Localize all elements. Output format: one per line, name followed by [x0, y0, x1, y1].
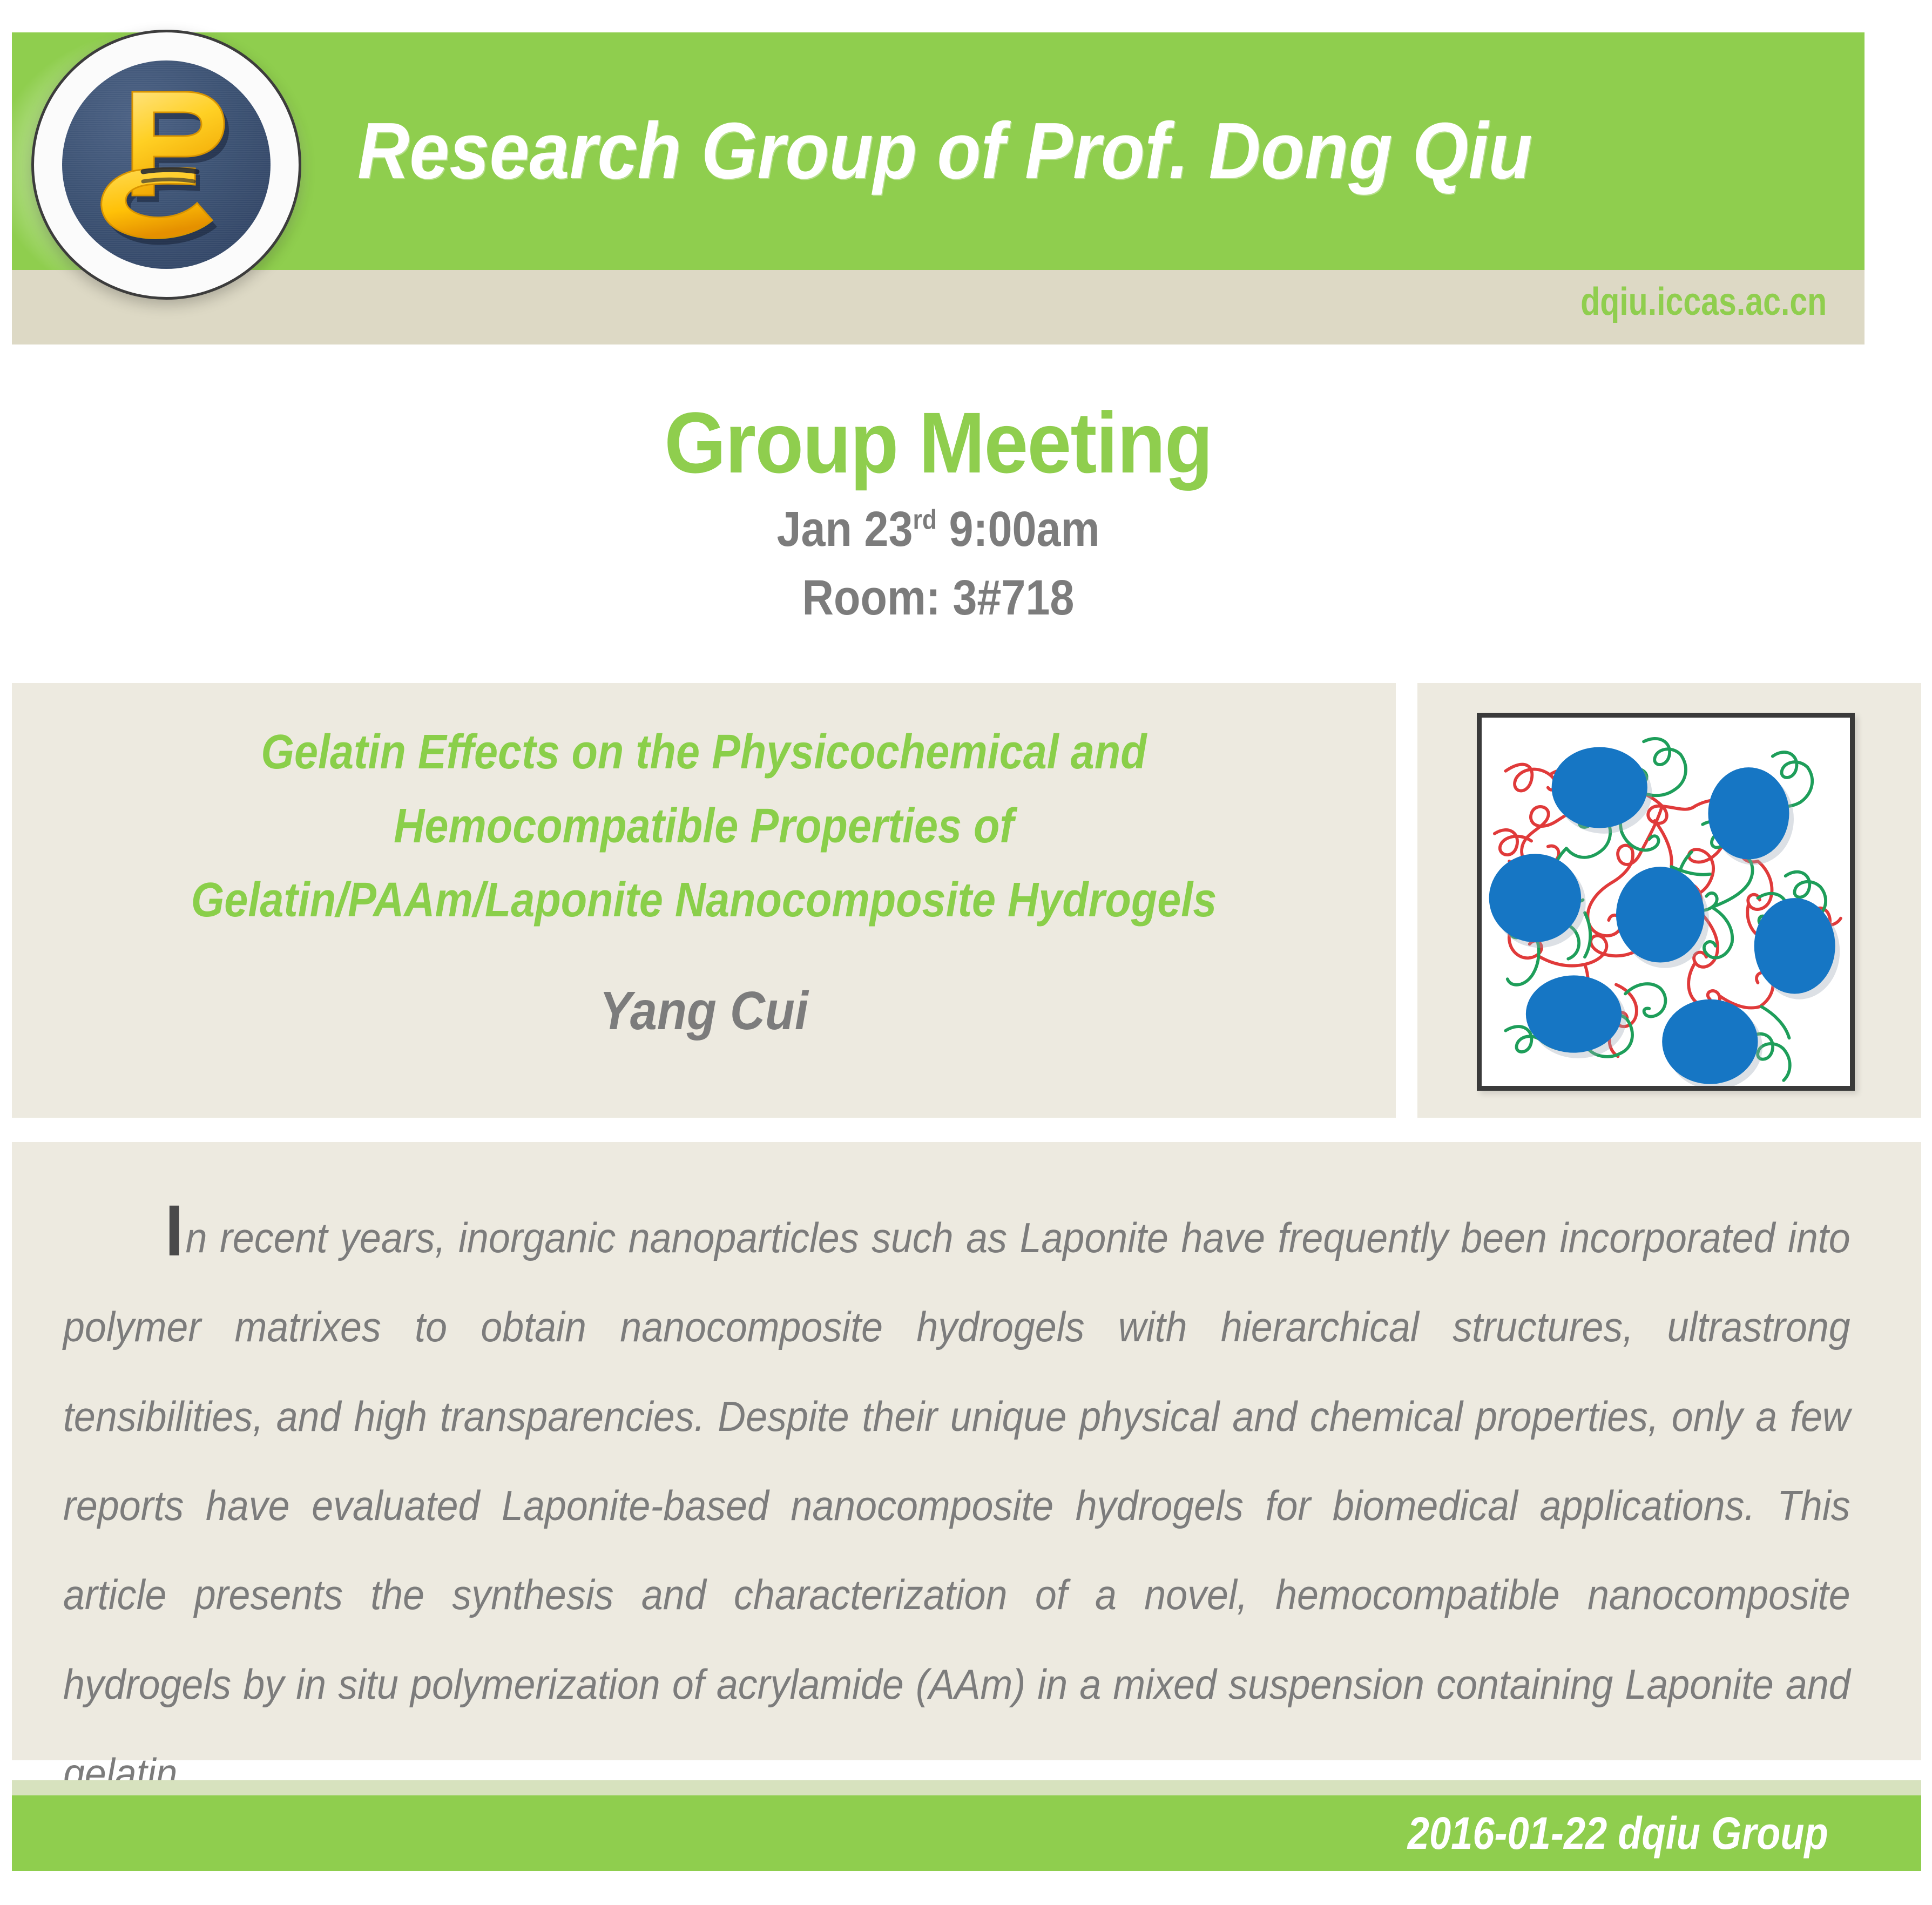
- presentation-panel: Gelatin Effects on the Physicochemical a…: [12, 683, 1396, 1118]
- hydrogel-network-svg: [1482, 718, 1850, 1086]
- footer-band: 2016-01-22 dqiu Group: [12, 1795, 1921, 1871]
- abstract-body: n recent years, inorganic nanoparticles …: [63, 1214, 1850, 1797]
- logo-inner-disc: [62, 60, 271, 269]
- abstract-dropcap: I: [63, 1191, 186, 1271]
- meeting-datetime: Jan 23rd 9:00am: [123, 503, 1753, 556]
- page-title: Research Group of Prof. Dong Qiu: [357, 32, 1524, 270]
- meeting-date-ordinal: rd: [913, 504, 937, 535]
- abstract-text: In recent years, inorganic nanoparticles…: [63, 1193, 1850, 1819]
- url-band: dqiu.iccas.ac.cn: [12, 270, 1865, 344]
- meeting-room: Room: 3#718: [123, 572, 1753, 624]
- meeting-block: Group Meeting Jan 23rd 9:00am Room: 3#71…: [12, 400, 1865, 624]
- footer-accent-strip: [12, 1780, 1921, 1795]
- research-group-logo: [31, 30, 301, 300]
- footer-credit: 2016-01-22 dqiu Group: [1408, 1807, 1828, 1860]
- figure-panel: [1417, 683, 1921, 1118]
- meeting-heading: Group Meeting: [86, 400, 1791, 486]
- meeting-time-value: 9:00am: [937, 502, 1100, 557]
- hydrogel-network-illustration: [1477, 713, 1855, 1091]
- meeting-date-prefix: Jan 23: [776, 502, 913, 557]
- logo-monogram-icon: [62, 60, 271, 269]
- abstract-panel: In recent years, inorganic nanoparticles…: [12, 1142, 1921, 1760]
- paper-title: Gelatin Effects on the Physicochemical a…: [152, 715, 1255, 937]
- speaker-name: Yang Cui: [139, 980, 1268, 1042]
- site-url-link[interactable]: dqiu.iccas.ac.cn: [1580, 280, 1827, 324]
